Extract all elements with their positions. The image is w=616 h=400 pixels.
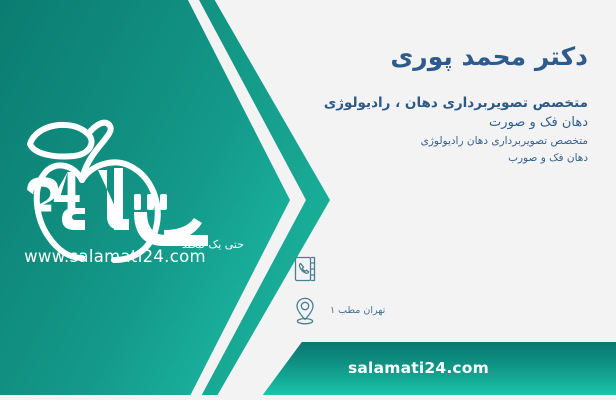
contact-location-label: تهران مطب ۱ <box>330 305 385 318</box>
footer-bar: salamati24.com <box>259 342 616 400</box>
logo-website-url: www.salamati24.com <box>20 247 210 266</box>
contact-row-phone[interactable] <box>290 248 590 290</box>
specialty-line-1: متخصص تصویربرداری دهان ، رادیولوژی <box>158 94 588 114</box>
phonebook-icon <box>290 252 320 286</box>
map-pin-icon <box>290 294 320 328</box>
specialty-line-2: دهان فک و صورت <box>158 114 588 133</box>
doctor-profile-card: به راحتی یک لبخند www.salamati24.com دکت… <box>0 0 616 400</box>
contact-block: تهران مطب ۱ <box>290 248 590 332</box>
contact-row-location[interactable]: تهران مطب ۱ <box>290 290 590 332</box>
footer-bottom-edge <box>0 395 616 400</box>
footer-website-url[interactable]: salamati24.com <box>259 359 616 377</box>
specialty-line-3: متخصص تصویربرداری دهان رادیولوژی <box>158 133 588 149</box>
doctor-name: دکتر محمد پوری <box>168 41 588 72</box>
doctor-specialty-block: متخصص تصویربرداری دهان ، رادیولوژی دهان … <box>158 94 588 166</box>
specialty-line-4: دهان فک و صورب <box>158 150 588 166</box>
